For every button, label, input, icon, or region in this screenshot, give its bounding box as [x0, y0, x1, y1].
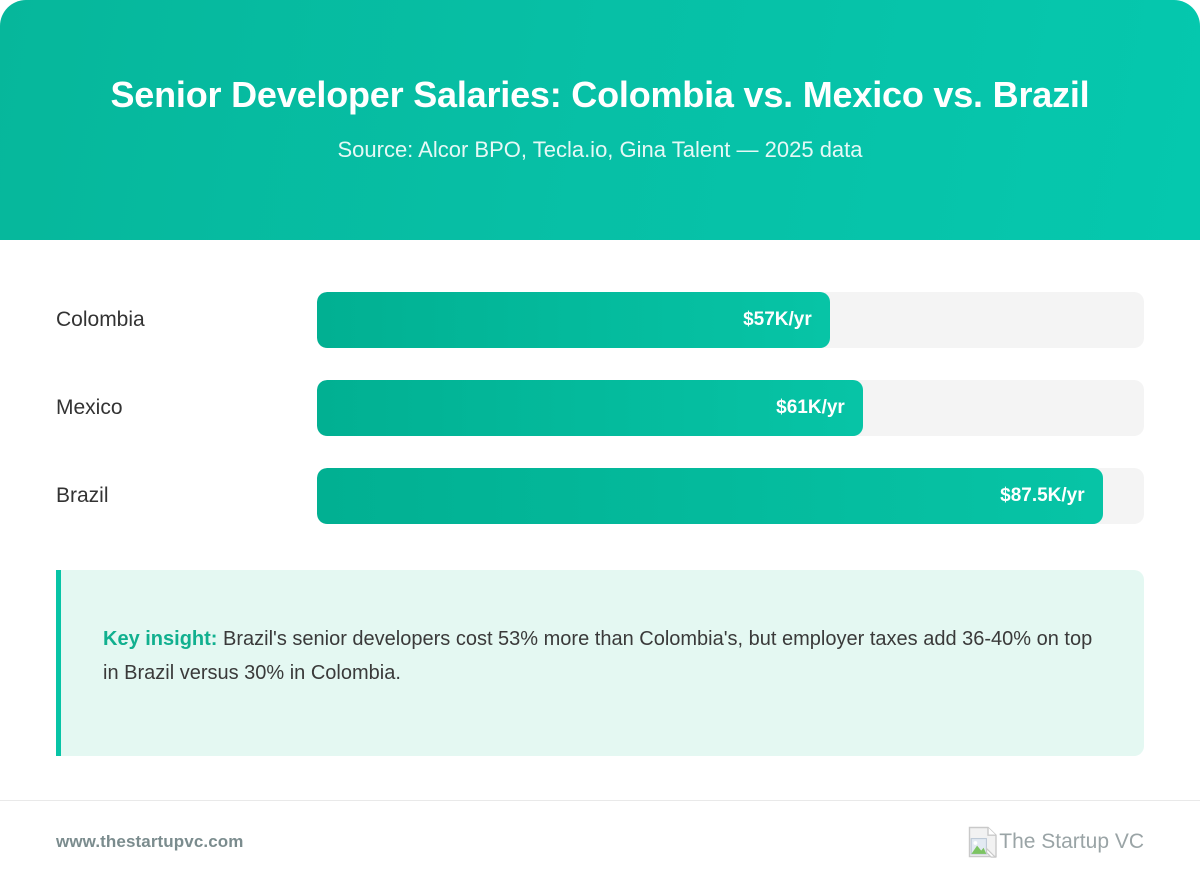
- bar-track: $87.5K/yr: [317, 468, 1144, 524]
- bar-value-label: $57K/yr: [743, 309, 812, 331]
- bar-chart: Colombia $57K/yr Mexico $61K/yr Brazil: [56, 292, 1144, 524]
- footer-brand-name: The Startup VC: [999, 831, 1144, 852]
- bar-row: Brazil $87.5K/yr: [56, 468, 1144, 524]
- broken-image-icon: [968, 826, 998, 858]
- bar-fill: $61K/yr: [317, 380, 863, 436]
- page-subtitle: Source: Alcor BPO, Tecla.io, Gina Talent…: [337, 136, 862, 165]
- bar-row: Colombia $57K/yr: [56, 292, 1144, 348]
- bar-track: $61K/yr: [317, 380, 1144, 436]
- bar-fill: $87.5K/yr: [317, 468, 1103, 524]
- bar-fill: $57K/yr: [317, 292, 830, 348]
- key-insight-body: Brazil's senior developers cost 53% more…: [103, 628, 1092, 684]
- key-insight-text: Key insight: Brazil's senior developers …: [103, 622, 1098, 691]
- bar-value-label: $61K/yr: [776, 397, 845, 419]
- header-banner: Senior Developer Salaries: Colombia vs. …: [0, 0, 1200, 240]
- bar-track: $57K/yr: [317, 292, 1144, 348]
- footer-brand: The Startup VC: [968, 826, 1144, 858]
- bar-value-label: $87.5K/yr: [1000, 485, 1085, 507]
- footer: www.thestartupvc.com The Startup VC: [0, 800, 1200, 882]
- footer-website-url[interactable]: www.thestartupvc.com: [56, 832, 243, 852]
- infographic-card: Senior Developer Salaries: Colombia vs. …: [0, 0, 1200, 882]
- bar-row: Mexico $61K/yr: [56, 380, 1144, 436]
- bar-category-label: Brazil: [56, 483, 317, 508]
- key-insight-callout: Key insight: Brazil's senior developers …: [56, 570, 1144, 756]
- page-title: Senior Developer Salaries: Colombia vs. …: [111, 69, 1090, 120]
- bar-category-label: Mexico: [56, 395, 317, 420]
- bar-category-label: Colombia: [56, 307, 317, 332]
- card-body: Colombia $57K/yr Mexico $61K/yr Brazil: [0, 240, 1200, 800]
- key-insight-lead: Key insight:: [103, 628, 217, 650]
